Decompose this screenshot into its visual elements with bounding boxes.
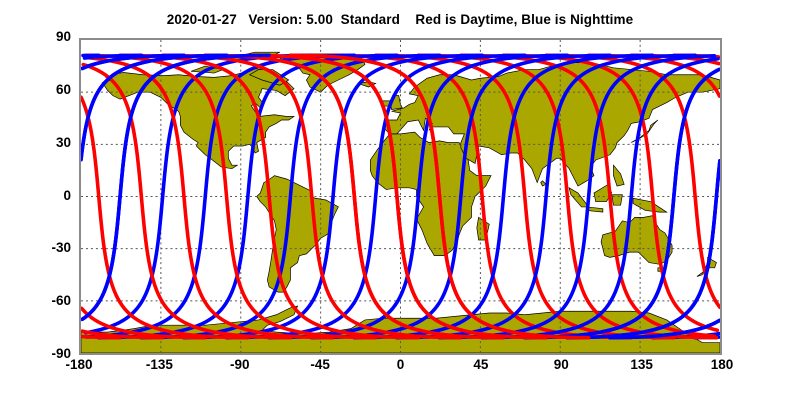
x-tick-45: 45 xyxy=(441,357,521,372)
x-tick--135: -135 xyxy=(119,357,199,372)
y-tick-60: 60 xyxy=(11,82,71,97)
x-tick--180: -180 xyxy=(39,357,119,372)
x-tick-90: 90 xyxy=(521,357,601,372)
x-tick--90: -90 xyxy=(200,357,280,372)
x-tick-0: 0 xyxy=(361,357,441,372)
x-tick-135: 135 xyxy=(602,357,682,372)
world-map-svg xyxy=(81,40,720,353)
y-tick-0: 0 xyxy=(11,188,71,203)
y-tick-90: 90 xyxy=(11,29,71,44)
y-tick-30: 30 xyxy=(11,135,71,150)
landmass-new-guinea xyxy=(633,198,667,212)
x-tick--45: -45 xyxy=(280,357,360,372)
landmass-sri-lanka xyxy=(541,181,546,186)
x-tick-180: 180 xyxy=(682,357,762,372)
y-tick--30: -30 xyxy=(11,240,71,255)
landmass-sumatra xyxy=(569,188,589,207)
ground-track-plot: 2020-01-27 Version: 5.00 Standard Red is… xyxy=(0,0,800,400)
plot-frame xyxy=(79,38,722,355)
landmass-philippines xyxy=(613,165,624,186)
page-title: 2020-01-27 Version: 5.00 Standard Red is… xyxy=(0,12,800,27)
map-canvas xyxy=(81,40,720,353)
y-tick--60: -60 xyxy=(11,293,71,308)
